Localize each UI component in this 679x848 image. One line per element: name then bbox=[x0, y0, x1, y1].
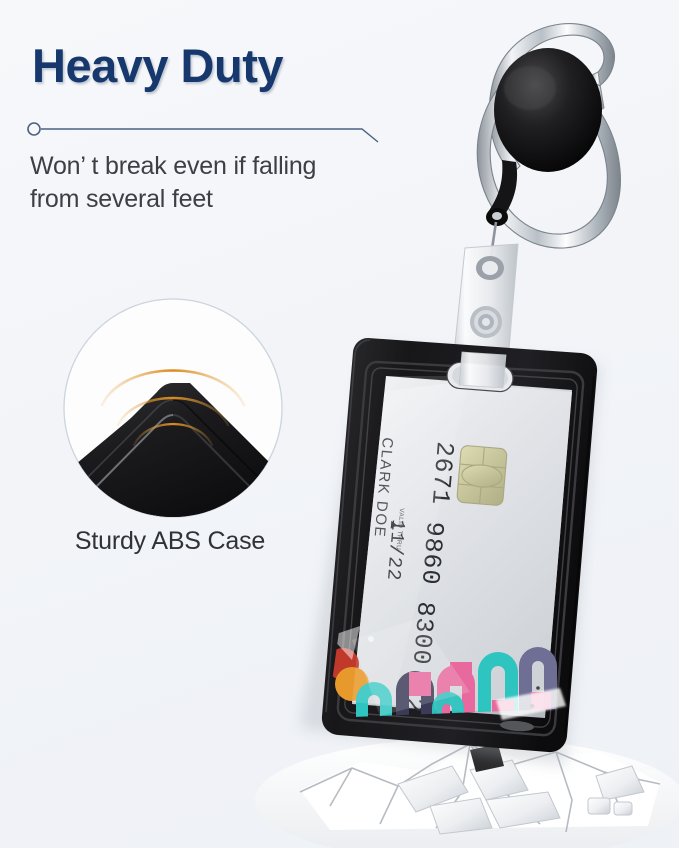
subtitle-line-2: from several feet bbox=[30, 183, 380, 216]
page-title: Heavy Duty bbox=[32, 38, 283, 93]
corner-detail-callout bbox=[62, 297, 284, 519]
svg-text:11/22: 11/22 bbox=[382, 518, 409, 582]
card-brand-logo bbox=[327, 648, 369, 701]
retractable-reel-body bbox=[486, 48, 602, 226]
divider-line bbox=[41, 129, 378, 142]
card-valid-thru: VALID THRU 11/22 bbox=[382, 508, 409, 582]
floor-debris bbox=[398, 700, 644, 834]
svg-text:VALID THRU: VALID THRU bbox=[394, 508, 404, 550]
retractor-cord bbox=[491, 222, 496, 256]
callout-caption: Sturdy ABS Case bbox=[0, 527, 340, 556]
svg-text:8300: 8300 bbox=[406, 600, 440, 666]
carabiner-clip bbox=[477, 24, 620, 249]
card-number: 2671 9860 8300 0202 bbox=[396, 440, 459, 746]
clear-vinyl-strap bbox=[450, 244, 518, 396]
product-marketing-image: 2671 9860 8300 0202 VALID THRU 11/22 C bbox=[0, 0, 679, 848]
breadcrumb bbox=[26, 120, 386, 146]
svg-text:0202: 0202 bbox=[396, 680, 430, 746]
card-chip bbox=[457, 445, 508, 506]
subtitle: Won’ t break even if falling from severa… bbox=[30, 150, 380, 217]
strap-snap-button bbox=[470, 306, 502, 338]
subtitle-line-1: Won’ t break even if falling bbox=[30, 150, 380, 183]
svg-text:9860: 9860 bbox=[415, 520, 449, 586]
divider-dot-icon bbox=[28, 123, 40, 135]
lanyard-slot bbox=[446, 362, 514, 393]
card-holder-name: CLARK DOE bbox=[371, 437, 396, 539]
cracked-floor-impact bbox=[255, 700, 679, 848]
svg-text:2671: 2671 bbox=[425, 440, 459, 506]
abs-badge-case: 2671 9860 8300 0202 VALID THRU 11/22 C bbox=[300, 338, 600, 766]
card-arch-pattern bbox=[356, 647, 557, 729]
id-credit-card: 2671 9860 8300 0202 VALID THRU 11/22 C bbox=[327, 378, 572, 747]
